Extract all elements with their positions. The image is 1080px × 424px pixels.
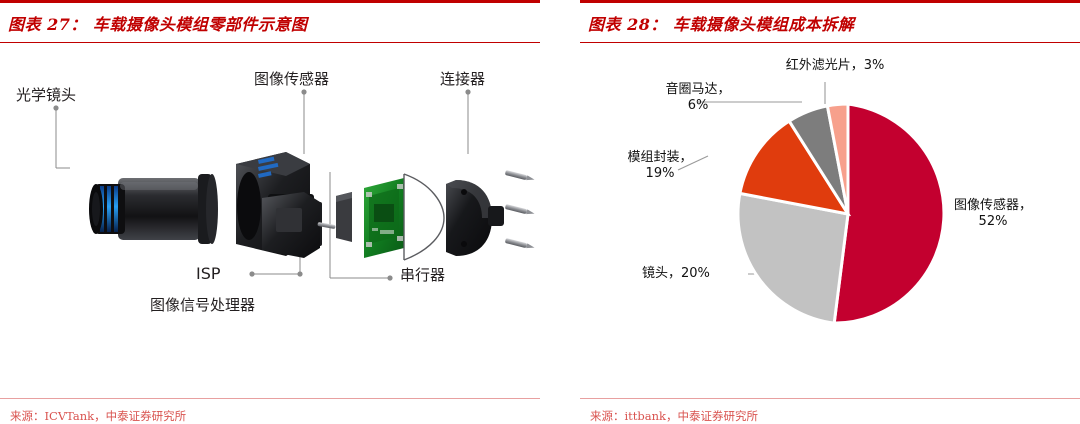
figure-28-panel: 图表 28： 车载摄像头模组成本拆解 [580, 0, 1080, 424]
camera-module-exploded-diagram: 光学镜头 图像传感器 连接器 ISP 图像信号处理器 串行器 [0, 46, 540, 384]
optical-lens-art [89, 174, 218, 244]
cost-breakdown-pie-chart: 红外滤光片，3% 音圈马达， 6% 模组封装， 19% 镜头，20% 图像传感器… [580, 46, 1080, 384]
ir-filter-plate-art [336, 192, 352, 242]
figure-28-footer: 来源：ittbank，中泰证券研究所 [580, 398, 1080, 424]
label-image-sensor: 图像传感器 [254, 68, 329, 89]
figure-27-panel: 图表 27： 车载摄像头模组零部件示意图 [0, 0, 540, 424]
figure-28-title: 图表 28： 车载摄像头模组成本拆解 [580, 3, 1080, 42]
pie-label-module-package-value: 19% [646, 166, 675, 181]
label-connector: 连接器 [440, 68, 485, 89]
sensor-mount-block [262, 192, 320, 258]
figure-28-title-underline [580, 42, 1080, 43]
pie-label-voice-coil-motor-value: 6% [688, 98, 709, 113]
pie-slices [738, 104, 944, 323]
pie-label-voice-coil-motor: 音圈马达， 6% [638, 82, 758, 114]
pie-label-voice-coil-motor-text: 音圈马达， [665, 82, 730, 97]
pie-label-image-sensor-value: 52% [979, 214, 1008, 229]
label-isp-fullname: 图像信号处理器 [150, 294, 255, 315]
report-figures-page: 图表 27： 车载摄像头模组零部件示意图 [0, 0, 1080, 424]
slice-lens [738, 193, 848, 323]
gasket-outline-art [404, 174, 444, 260]
figure-27-body: 光学镜头 图像传感器 连接器 ISP 图像信号处理器 串行器 [0, 46, 540, 384]
pie-label-module-package: 模组封装， 19% [600, 150, 720, 182]
figure-27-title: 图表 27： 车载摄像头模组零部件示意图 [0, 3, 540, 42]
figure-27-footer: 来源：ICVTank，中泰证券研究所 [0, 398, 540, 424]
pie-label-image-sensor-text: 图像传感器， [954, 198, 1032, 213]
label-isp: ISP [196, 264, 221, 283]
pie-label-ir-filter: 红外滤光片，3% [750, 58, 920, 74]
figure-27-source: 来源：ICVTank，中泰证券研究所 [0, 399, 540, 424]
label-optical-lens: 光学镜头 [16, 84, 76, 105]
rear-housing-art [446, 180, 504, 256]
figure-28-body: 红外滤光片，3% 音圈马达， 6% 模组封装， 19% 镜头，20% 图像传感器… [580, 46, 1080, 384]
pcb-board-art [364, 178, 404, 258]
pie-label-module-package-text: 模组封装， [627, 150, 692, 165]
diagram-artwork [0, 46, 540, 384]
pie-label-lens: 镜头，20% [642, 266, 710, 282]
figure-28-source: 来源：ittbank，中泰证券研究所 [580, 399, 1080, 424]
label-serializer: 串行器 [400, 264, 445, 285]
figure-27-title-underline [0, 42, 540, 43]
pie-label-image-sensor: 图像传感器， 52% [928, 198, 1058, 230]
